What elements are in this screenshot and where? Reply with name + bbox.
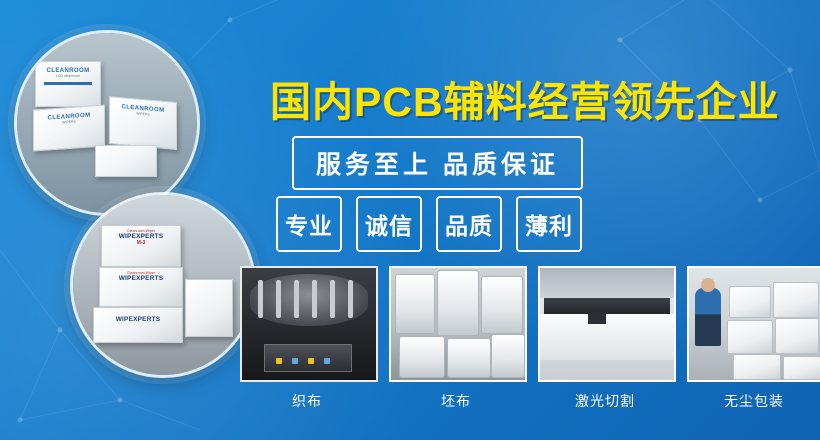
- process-thumbnail-strip: 织布 坯布 激光切割: [240, 266, 820, 411]
- thumbnail-cell-greige: 坯布: [389, 266, 523, 411]
- subtitle-text: 服务至上 品质保证: [292, 136, 583, 190]
- thumbnail-caption-weaving: 织布: [240, 391, 374, 411]
- photo-cleanroom-wipes-cartons: CLEANROOMLCD cleanroom CLEANROOMWIPERS C…: [14, 30, 200, 216]
- feature-tag-2: 品质: [436, 196, 502, 252]
- thumbnail-cell-packaging: 无尘包装: [687, 266, 820, 411]
- feature-tag-3: 薄利: [516, 196, 582, 252]
- subtitle-box: 服务至上 品质保证: [292, 136, 583, 190]
- thumbnail-caption-laser: 激光切割: [538, 391, 672, 411]
- thumbnail-image-packaging: [687, 266, 820, 382]
- thumbnail-cell-weaving: 织布: [240, 266, 374, 411]
- page-title: 国内PCB辅料经营领先企业: [270, 68, 800, 128]
- promo-banner: CLEANROOMLCD cleanroom CLEANROOMWIPERS C…: [0, 0, 820, 440]
- thumbnail-cell-laser: 激光切割: [538, 266, 672, 411]
- photo-wipexperts-cartons: Cleanroom WiperWIPEXPERTSM-3 Cleanroom W…: [70, 192, 256, 378]
- feature-tag-0: 专业: [276, 196, 342, 252]
- thumbnail-caption-greige: 坯布: [389, 391, 523, 411]
- thumbnail-image-greige: [389, 266, 527, 382]
- thumbnail-image-weaving: [240, 266, 378, 382]
- thumbnail-image-laser: [538, 266, 676, 382]
- feature-tag-1: 诚信: [356, 196, 422, 252]
- thumbnail-caption-packaging: 无尘包装: [687, 391, 820, 411]
- feature-tag-list: 专业 诚信 品质 薄利: [276, 196, 582, 252]
